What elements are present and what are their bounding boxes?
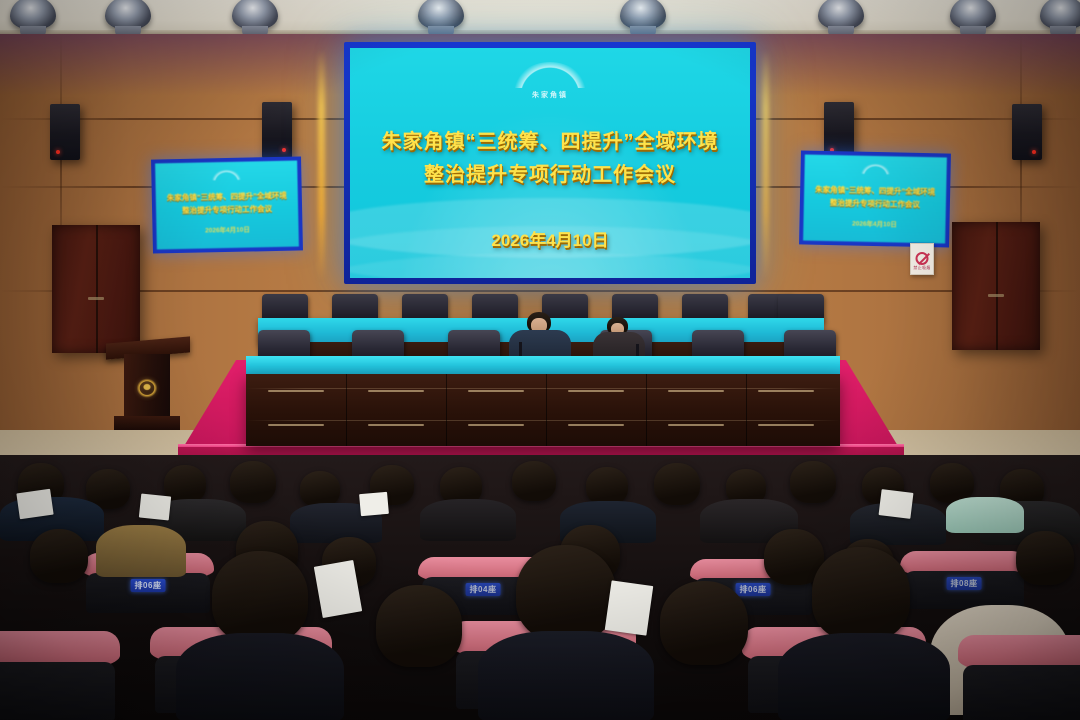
audience-seat[interactable] xyxy=(0,631,120,720)
fan-emblem-logo-icon xyxy=(515,62,585,88)
side-led-screen-left[interactable]: 朱家角镇“三统筹、四提升”全域环境 整治提升专项行动工作会议 2026年4月10… xyxy=(151,156,303,253)
main-led-screen[interactable]: 朱家角镇 朱家角镇“三统筹、四提升”全域环境 整治提升专项行动工作会议 2026… xyxy=(344,42,756,284)
attendee-head xyxy=(654,463,700,505)
podium-base xyxy=(114,416,180,430)
screen-date: 2026年4月10日 xyxy=(350,226,750,251)
attendee-head xyxy=(1016,531,1074,585)
attendee-shoulders xyxy=(778,633,950,720)
wall-seam xyxy=(0,290,1080,292)
attendee-shoulders xyxy=(478,631,654,720)
attendee-shoulders xyxy=(176,633,344,720)
table-drawer-pull xyxy=(758,424,814,426)
door-handle-icon xyxy=(88,297,104,300)
screen-title-line2: 整治提升专项行动工作会议 xyxy=(350,159,750,192)
wall-speaker xyxy=(50,104,80,160)
attendee-head xyxy=(376,585,462,667)
seat-number-plate: 排06座 xyxy=(131,579,166,592)
side-screen-surface-left: 朱家角镇“三统筹、四提升”全域环境 整治提升专项行动工作会议 2026年4月10… xyxy=(155,161,299,250)
seat-number-plate: 排04座 xyxy=(466,583,501,596)
side-screen-logo-left xyxy=(155,169,297,182)
wall-accent-light xyxy=(318,50,325,280)
table-drawer-pull xyxy=(368,390,424,392)
ceiling-spotlight-icon xyxy=(1040,0,1080,30)
ceiling-spotlight-icon xyxy=(818,0,864,30)
table-drawer-pull xyxy=(568,390,624,392)
attendee-shoulders xyxy=(96,525,186,577)
table-panel-divider xyxy=(646,374,647,446)
exit-door-left[interactable] xyxy=(52,225,140,353)
speaking-podium[interactable] xyxy=(118,340,176,432)
table-drawer-pull xyxy=(568,424,624,426)
wall-speaker xyxy=(1012,104,1042,160)
screen-logo-caption: 朱家角镇 xyxy=(350,90,750,100)
side-led-screen-right[interactable]: 朱家角镇“三统筹、四提升”全域环境 整治提升专项行动工作会议 2026年4月10… xyxy=(799,150,951,247)
table-drawer-pull xyxy=(758,390,814,392)
side-screen-title-left: 朱家角镇“三统筹、四提升”全域环境 整治提升专项行动工作会议 xyxy=(160,189,295,218)
fan-emblem-logo-icon xyxy=(862,164,890,175)
screen-logo: 朱家角镇 xyxy=(350,62,750,100)
seat-back xyxy=(963,665,1080,720)
auditorium-scene: 朱家角镇 朱家角镇“三统筹、四提升”全域环境 整治提升专项行动工作会议 2026… xyxy=(0,0,1080,720)
audience-area: 排06座 排04座 排08座 排06座 xyxy=(0,455,1080,720)
no-smoking-text: 禁止吸烟 xyxy=(911,265,933,271)
table-drawer-pull xyxy=(668,424,724,426)
attendee-head xyxy=(586,467,628,505)
ceiling-spotlight-icon xyxy=(620,0,666,30)
attendee-head xyxy=(512,461,556,501)
attendee-head xyxy=(660,581,748,665)
table-panel-divider xyxy=(446,374,447,446)
exit-door-right[interactable] xyxy=(952,222,1040,350)
side-screen-surface-right: 朱家角镇“三统筹、四提升”全域环境 整治提升专项行动工作会议 2026年4月10… xyxy=(803,155,947,244)
attendee-head xyxy=(790,461,836,503)
audience-seat[interactable] xyxy=(958,635,1080,720)
seat-number-plate: 排08座 xyxy=(947,577,982,590)
screen-title: 朱家角镇“三统筹、四提升”全域环境 整治提升专项行动工作会议 xyxy=(350,126,750,192)
attendee-head xyxy=(212,551,308,643)
table-drawer-pull xyxy=(468,390,524,392)
handout-paper xyxy=(359,492,389,516)
ceiling-spotlight-icon xyxy=(10,0,56,30)
attendee-head xyxy=(812,547,910,641)
ceiling-spotlight-icon xyxy=(950,0,996,30)
main-screen-surface: 朱家角镇 朱家角镇“三统筹、四提升”全域环境 整治提升专项行动工作会议 2026… xyxy=(350,48,750,278)
table-drawer-pull xyxy=(368,424,424,426)
fan-emblem-logo-icon xyxy=(212,170,240,181)
table-panel-line xyxy=(246,420,840,421)
side-screen-title-right: 朱家角镇“三统筹、四提升”全域环境 整治提升专项行动工作会议 xyxy=(808,183,943,212)
side-screen-logo-right xyxy=(805,163,947,176)
audience-seat[interactable]: 排08座 xyxy=(900,551,1028,609)
ceiling-spotlight-icon xyxy=(418,0,464,30)
table-drawer-pull xyxy=(268,424,324,426)
side-screen-date-left: 2026年4月10日 xyxy=(156,223,298,236)
ceiling-spotlight-icon xyxy=(232,0,278,30)
attendee-shoulders xyxy=(420,499,516,541)
table-panel-divider xyxy=(546,374,547,446)
no-smoking-sign: 禁止吸烟 xyxy=(910,243,934,275)
table-drawer-pull xyxy=(268,390,324,392)
wall-accent-light xyxy=(762,50,769,280)
screen-title-line1: 朱家角镇“三统筹、四提升”全域环境 xyxy=(350,126,750,159)
table-drawer-pull xyxy=(668,390,724,392)
table-panel-line xyxy=(246,388,840,389)
handout-paper xyxy=(605,580,654,635)
table-drawer-pull xyxy=(468,424,524,426)
wall-speaker xyxy=(824,102,854,158)
door-handle-icon xyxy=(988,294,1004,297)
table-panel-divider xyxy=(346,374,347,446)
attendee-head xyxy=(516,545,616,641)
ceiling xyxy=(0,0,1080,34)
seat-back xyxy=(0,662,115,720)
head-table-top xyxy=(246,356,840,376)
podium-column xyxy=(124,354,170,418)
table-panel-divider xyxy=(746,374,747,446)
ceiling-spotlight-icon xyxy=(105,0,151,30)
seat-number-plate: 排06座 xyxy=(736,583,771,596)
handout-paper xyxy=(139,493,171,520)
speaker-led-icon xyxy=(282,148,286,152)
speaker-led-icon xyxy=(56,150,60,154)
gold-swirl-emblem-icon xyxy=(134,376,160,398)
no-smoking-icon xyxy=(916,252,929,265)
speaker-led-icon xyxy=(1032,150,1036,154)
attendee-shoulders xyxy=(946,497,1024,533)
handout-paper xyxy=(16,489,53,519)
attendee-head xyxy=(230,461,276,503)
side-screen-date-right: 2026年4月10日 xyxy=(803,217,945,230)
handout-paper xyxy=(879,489,914,519)
attendee-head xyxy=(30,529,88,583)
attendee-head xyxy=(300,471,340,507)
head-table-front xyxy=(246,374,840,446)
wall-speaker xyxy=(262,102,292,158)
